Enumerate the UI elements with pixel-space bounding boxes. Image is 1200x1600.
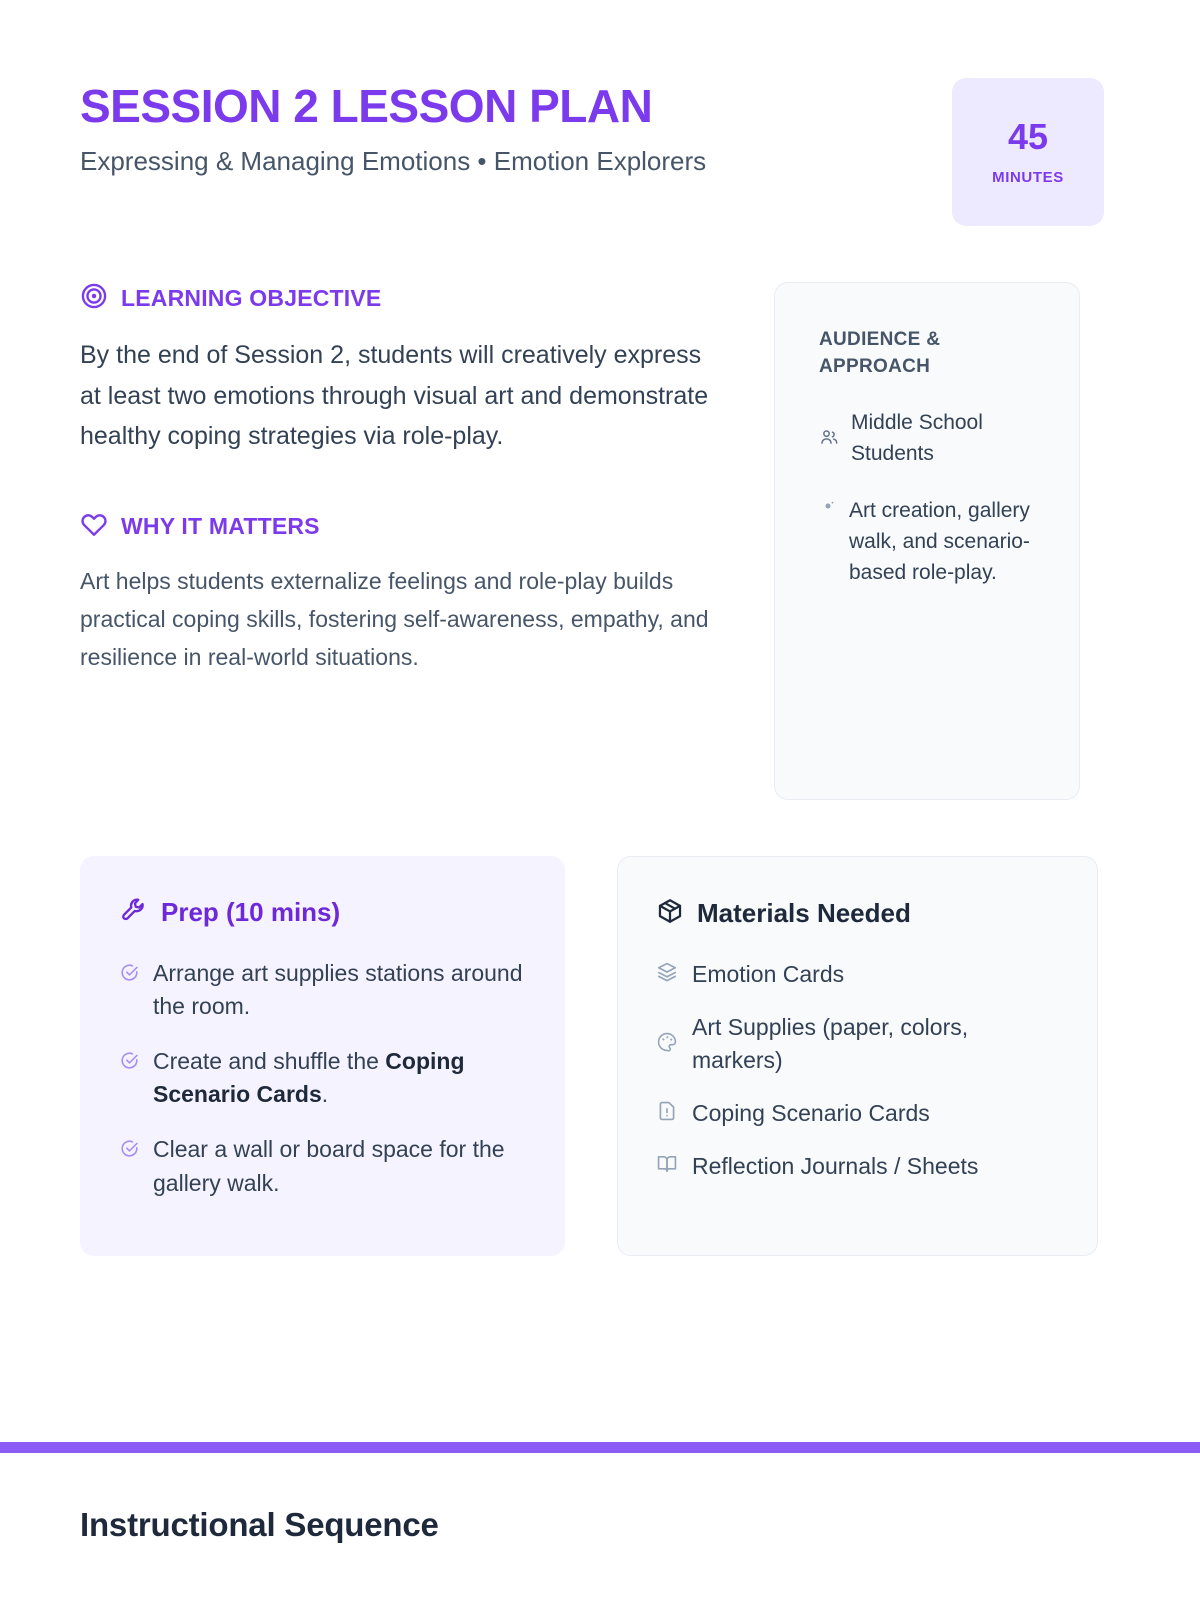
prep-item-label: Create and shuffle the Coping Scenario C…: [153, 1045, 527, 1111]
prep-checklist: Arrange art supplies stations around the…: [120, 957, 527, 1200]
page-subtitle: Expressing & Managing Emotions • Emotion…: [80, 145, 706, 178]
materials-card-label: Materials Needed: [697, 898, 911, 929]
section-divider: [0, 1442, 1200, 1453]
lesson-plan-page: SESSION 2 LESSON PLAN Expressing & Manag…: [0, 0, 1200, 1600]
spacer: [80, 457, 728, 511]
users-icon: [819, 427, 839, 452]
check-circle-icon: [120, 963, 139, 987]
list-item: Clear a wall or board space for the gall…: [120, 1133, 527, 1199]
heart-icon: [80, 511, 108, 542]
approach-item-label: Art creation, gallery walk, and scenario…: [849, 495, 1053, 588]
duration-badge: 45 MINUTES: [952, 78, 1104, 226]
prep-card-title: Prep (10 mins): [120, 896, 527, 929]
prep-item-text-lead: Create and shuffle the: [153, 1048, 385, 1074]
target-icon: [80, 282, 108, 315]
list-item: Middle School Students: [819, 407, 1053, 469]
page-title: SESSION 2 LESSON PLAN: [80, 82, 706, 131]
prep-card-label: Prep (10 mins): [161, 897, 340, 928]
audience-item-label: Middle School Students: [851, 407, 1053, 469]
lower-section: Prep (10 mins) Arrange art supplies stat…: [0, 800, 1200, 1256]
list-item: Coping Scenario Cards: [656, 1097, 1063, 1130]
list-item: Emotion Cards: [656, 958, 1063, 991]
list-item: Art creation, gallery walk, and scenario…: [819, 495, 1053, 588]
list-item: Reflection Journals / Sheets: [656, 1150, 1063, 1183]
material-item-label: Emotion Cards: [692, 958, 844, 991]
why-it-matters-label: WHY IT MATTERS: [121, 513, 320, 540]
learning-objective-text: By the end of Session 2, students will c…: [80, 335, 728, 457]
list-item: Create and shuffle the Coping Scenario C…: [120, 1045, 527, 1111]
list-item: Arrange art supplies stations around the…: [120, 957, 527, 1023]
check-circle-icon: [120, 1051, 139, 1075]
learning-objective-label: LEARNING OBJECTIVE: [121, 285, 381, 312]
package-icon: [656, 897, 684, 930]
wrench-icon: [120, 896, 148, 929]
prep-item-label: Arrange art supplies stations around the…: [153, 957, 527, 1023]
audience-approach-card: AUDIENCE & APPROACH Middle School Studen…: [774, 282, 1080, 800]
material-item-label: Art Supplies (paper, colors, markers): [692, 1011, 1063, 1077]
why-it-matters-text: Art helps students externalize feelings …: [80, 562, 728, 677]
material-item-label: Reflection Journals / Sheets: [692, 1150, 978, 1183]
upper-main-column: LEARNING OBJECTIVE By the end of Session…: [80, 282, 728, 676]
layers-icon: [656, 961, 678, 988]
duration-value: 45: [1008, 119, 1048, 155]
audience-approach-title: AUDIENCE & APPROACH: [819, 327, 1053, 381]
prep-item-text-tail: .: [322, 1081, 328, 1107]
material-item-label: Coping Scenario Cards: [692, 1097, 930, 1130]
materials-list: Emotion Cards Art Supplies (paper, color…: [656, 958, 1063, 1184]
prep-item-label: Clear a wall or board space for the gall…: [153, 1133, 527, 1199]
document-header: SESSION 2 LESSON PLAN Expressing & Manag…: [0, 0, 1200, 226]
list-item: Art Supplies (paper, colors, markers): [656, 1011, 1063, 1077]
file-alert-icon: [656, 1100, 678, 1127]
materials-card-title: Materials Needed: [656, 897, 1063, 930]
header-text-group: SESSION 2 LESSON PLAN Expressing & Manag…: [80, 78, 706, 177]
sparkle-icon: [819, 497, 837, 520]
duration-unit: MINUTES: [992, 169, 1064, 186]
materials-card: Materials Needed Emotion Cards: [617, 856, 1098, 1256]
instructional-sequence-heading: Instructional Sequence: [80, 1506, 439, 1544]
palette-icon: [656, 1031, 678, 1058]
learning-objective-heading: LEARNING OBJECTIVE: [80, 282, 728, 315]
prep-card: Prep (10 mins) Arrange art supplies stat…: [80, 856, 565, 1256]
upper-section: LEARNING OBJECTIVE By the end of Session…: [0, 226, 1200, 800]
book-open-icon: [656, 1153, 678, 1180]
why-it-matters-heading: WHY IT MATTERS: [80, 511, 728, 542]
check-circle-icon: [120, 1139, 139, 1163]
